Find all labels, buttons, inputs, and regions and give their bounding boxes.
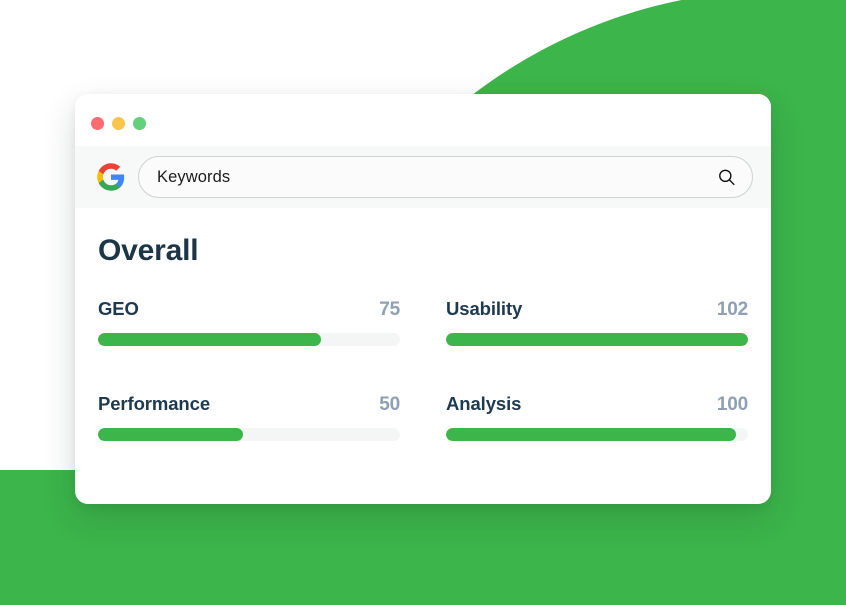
window-maximize-button[interactable] (133, 117, 146, 130)
google-g-logo-icon (96, 162, 126, 192)
metric-progress-track (98, 333, 400, 346)
metric-label: GEO (98, 298, 139, 320)
window-close-button[interactable] (91, 117, 104, 130)
metric-usability: Usability 102 (446, 298, 748, 346)
metric-geo: GEO 75 (98, 298, 400, 346)
metric-value: 102 (717, 299, 748, 321)
metric-header: Analysis 100 (446, 393, 748, 416)
search-input-value: Keywords (157, 168, 230, 187)
metric-progress-track (446, 333, 748, 346)
metric-value: 75 (379, 299, 400, 321)
card-content: Overall GEO 75 Usability 102 (75, 208, 771, 441)
metric-progress-fill (446, 428, 736, 441)
metric-progress-track (446, 428, 748, 441)
page-title: Overall (98, 234, 748, 268)
metric-header: Usability 102 (446, 298, 748, 321)
metric-analysis: Analysis 100 (446, 393, 748, 441)
window-minimize-button[interactable] (112, 117, 125, 130)
screenshot-stage: Keywords Overall GEO 75 (0, 0, 846, 605)
metric-progress-fill (98, 333, 321, 346)
metric-value: 100 (717, 394, 748, 416)
metrics-grid: GEO 75 Usability 102 (98, 298, 748, 441)
metric-header: Performance 50 (98, 393, 400, 416)
metric-progress-fill (98, 428, 243, 441)
metric-progress-track (98, 428, 400, 441)
metric-label: Usability (446, 298, 522, 320)
window-title-bar (75, 94, 771, 146)
search-input[interactable]: Keywords (138, 156, 753, 198)
search-icon[interactable] (717, 168, 736, 187)
metric-label: Analysis (446, 393, 521, 415)
browser-window-card: Keywords Overall GEO 75 (75, 94, 771, 504)
metric-value: 50 (379, 394, 400, 416)
metric-header: GEO 75 (98, 298, 400, 321)
metric-progress-fill (446, 333, 748, 346)
metric-performance: Performance 50 (98, 393, 400, 441)
search-header-bar: Keywords (75, 146, 771, 208)
metric-label: Performance (98, 393, 210, 415)
